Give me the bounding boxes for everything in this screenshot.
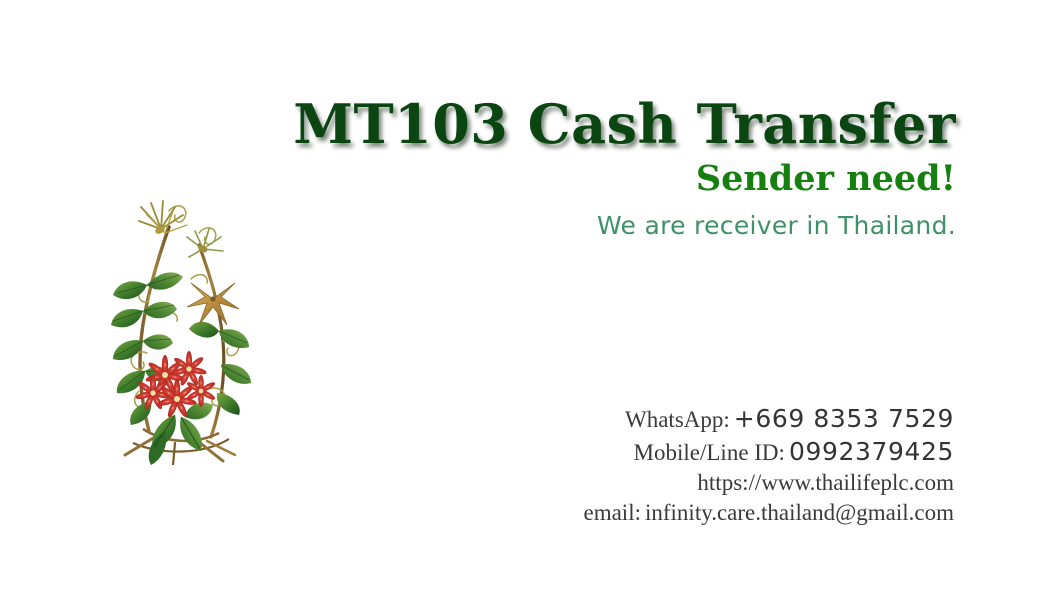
email-label: email: [584,500,641,525]
email-address[interactable]: infinity.care.thailand@gmail.com [645,500,954,525]
website-url[interactable]: https://www.thailifeplc.com [697,470,954,495]
tagline: We are receiver in Thailand. [260,212,956,241]
contact-block: WhatsApp: +669 8353 7529 Mobile/Line ID:… [420,404,954,526]
page-title: MT103 Cash Transfer [260,96,956,152]
seed-heads [139,201,223,257]
subtitle: Sender need! [260,160,956,199]
botanical-vine-wreath-illustration [103,193,258,465]
contact-line-website: https://www.thailifeplc.com [420,470,954,496]
headings-block: MT103 Cash Transfer Sender need! We are … [260,96,956,240]
contact-line-whatsapp: WhatsApp: +669 8353 7529 [420,404,954,433]
contact-line-email: email: infinity.care.thailand@gmail.com [420,500,954,526]
whatsapp-value[interactable]: +669 8353 7529 [734,404,954,433]
business-card-canvas: MT103 Cash Transfer Sender need! We are … [0,0,1063,600]
mobile-value[interactable]: 0992379425 [789,437,954,466]
mobile-label: Mobile/Line ID: [634,440,785,465]
whatsapp-label: WhatsApp: [625,407,730,432]
contact-line-mobile: Mobile/Line ID: 0992379425 [420,437,954,466]
